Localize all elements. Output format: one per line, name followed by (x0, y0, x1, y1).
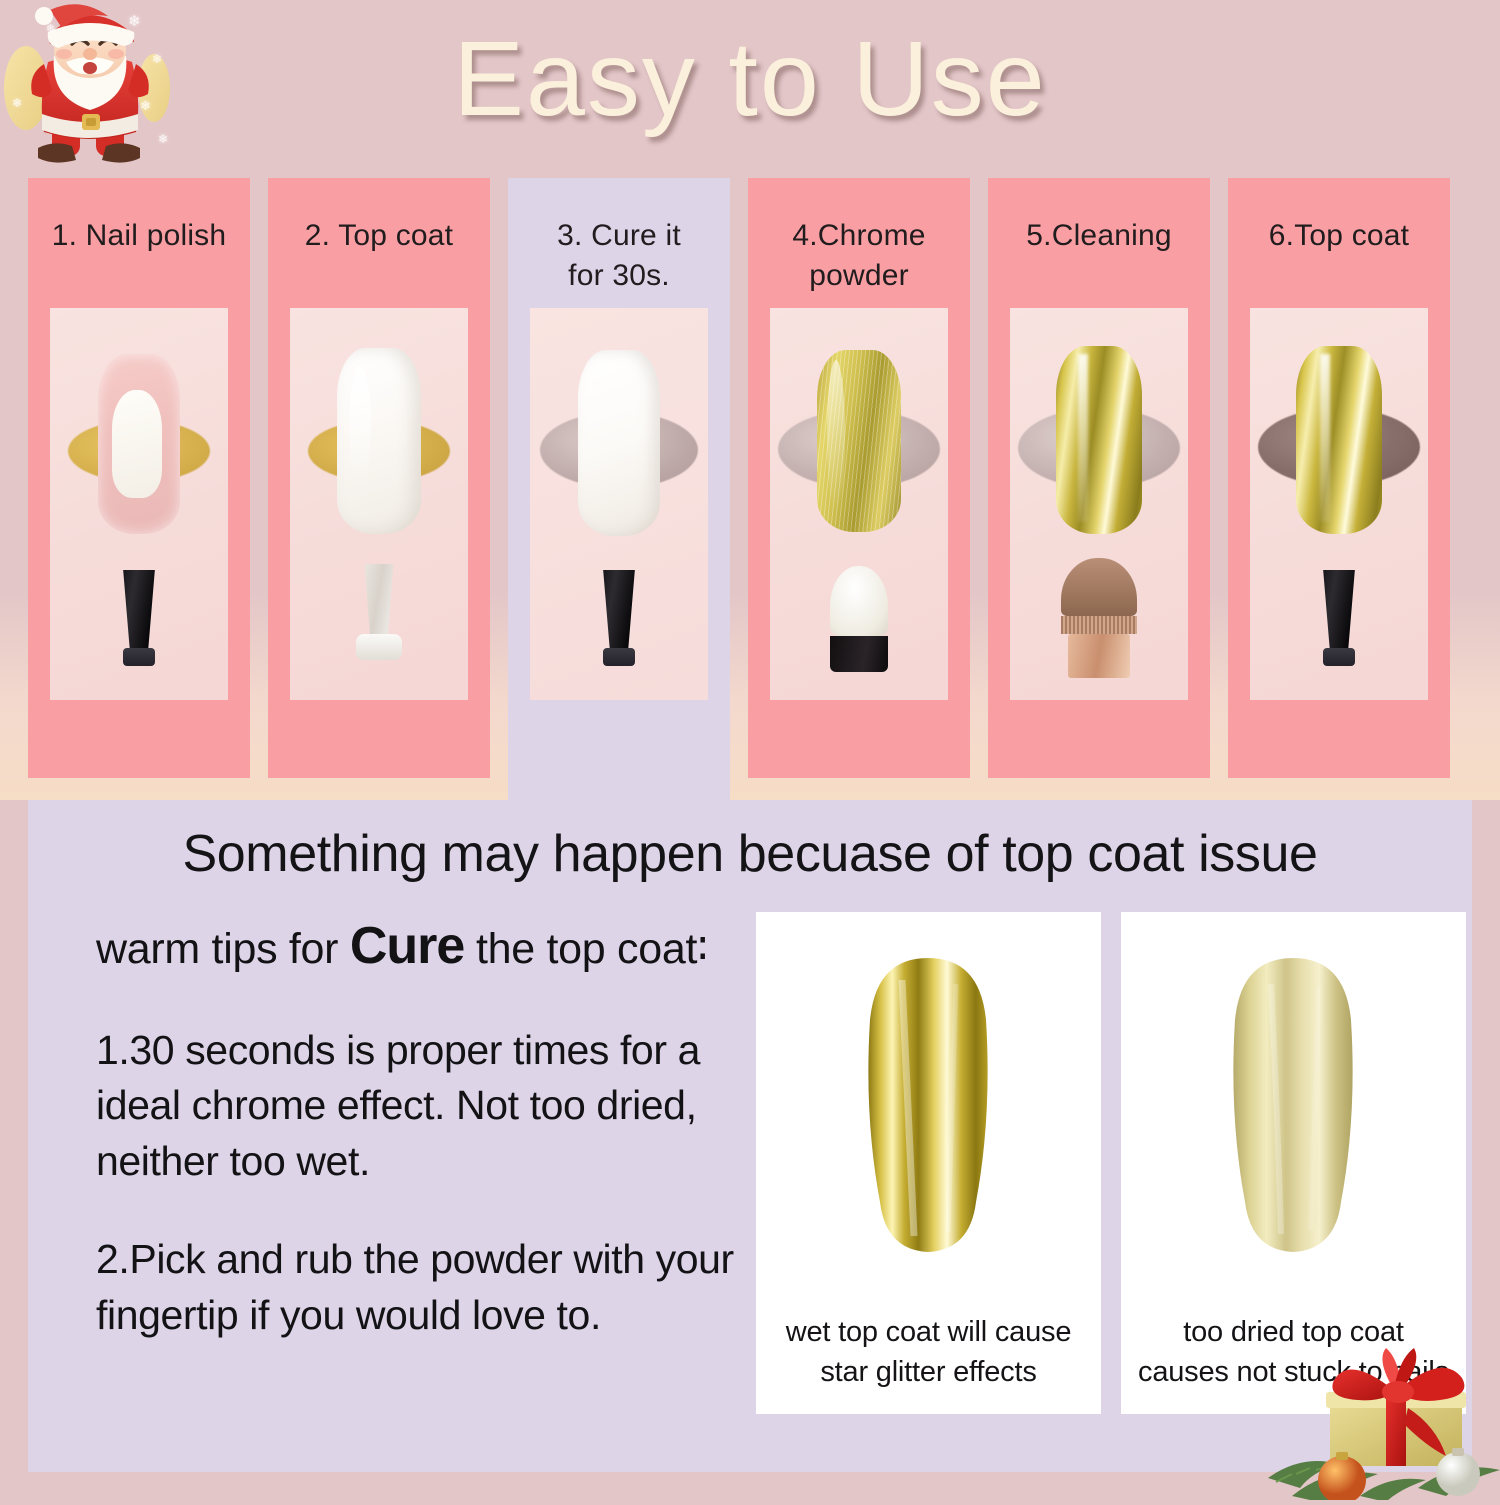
comparison-card-wet[interactable]: wet top coat will cause star glitter eff… (756, 912, 1101, 1414)
tips-panel: Something may happen becuase of top coat… (28, 800, 1472, 1472)
tips-lead-after: the top coat∶ (464, 925, 708, 973)
makeup-brush-icon (1061, 558, 1137, 678)
white-sponge-applicator-icon (830, 566, 888, 672)
tip-item-2: 2.Pick and rub the powder with your fing… (96, 1232, 736, 1344)
step-photo-2 (290, 308, 468, 700)
step-card-3[interactable]: 3. Cure it for 30s. (508, 178, 730, 800)
nail-swatch-gold-glitter (817, 350, 901, 532)
step-photo-5 (1010, 308, 1188, 700)
white-brush-cap-icon (358, 564, 400, 650)
comparison-caption-wet: wet top coat will cause star glitter eff… (756, 1312, 1101, 1392)
step-label-4: 4.Chrome powder (748, 216, 970, 295)
step-label-6: 6.Top coat (1228, 216, 1450, 256)
tip-item-1: 1.30 seconds is proper times for a ideal… (96, 1023, 736, 1190)
tips-panel-heading: Something may happen becuase of top coat… (28, 824, 1472, 884)
nail-swatch-nude (98, 354, 180, 534)
step-card-1[interactable]: 1. Nail polish (28, 178, 250, 778)
step-card-4[interactable]: 4.Chrome powder (748, 178, 970, 778)
christmas-gift-box-icon (1268, 1328, 1500, 1500)
nail-swatch-white (337, 348, 421, 534)
tips-lead-before: warm tips for (96, 925, 350, 973)
tips-lead: warm tips for Cure the top coat∶ (96, 912, 736, 981)
infographic-canvas: ❄ ❄ ❄ ❄ ❄ ❄ Easy to Use 1. Nail polish 2… (0, 0, 1500, 1500)
step-label-2: 2. Top coat (268, 216, 490, 256)
nail-swatch-gold-chrome (1056, 346, 1142, 534)
step-label-1: 1. Nail polish (28, 216, 250, 256)
tips-text-block: warm tips for Cure the top coat∶ 1.30 se… (96, 912, 736, 1343)
black-brush-cap-icon (1317, 570, 1361, 666)
step-card-5[interactable]: 5.Cleaning (988, 178, 1210, 778)
page-title: Easy to Use (0, 24, 1500, 135)
step-card-6[interactable]: 6.Top coat (1228, 178, 1450, 778)
step-label-5: 5.Cleaning (988, 216, 1210, 256)
black-brush-cap-icon (597, 570, 641, 666)
tips-lead-keyword: Cure (350, 917, 464, 975)
steps-row: 1. Nail polish 2. Top coat (0, 178, 1500, 800)
step-photo-3 (530, 308, 708, 700)
step-photo-6 (1250, 308, 1428, 700)
nail-swatch-cured-white (578, 350, 660, 536)
step-label-3: 3. Cure it for 30s. (508, 216, 730, 295)
step-photo-1 (50, 308, 228, 700)
pale-gold-chrome-nail-icon (1121, 940, 1466, 1270)
nail-swatch-final-gold (1296, 346, 1382, 534)
step-photo-4 (770, 308, 948, 700)
step-card-2[interactable]: 2. Top coat (268, 178, 490, 778)
black-brush-cap-icon (117, 570, 161, 666)
glossy-gold-chrome-nail-icon (756, 940, 1101, 1270)
